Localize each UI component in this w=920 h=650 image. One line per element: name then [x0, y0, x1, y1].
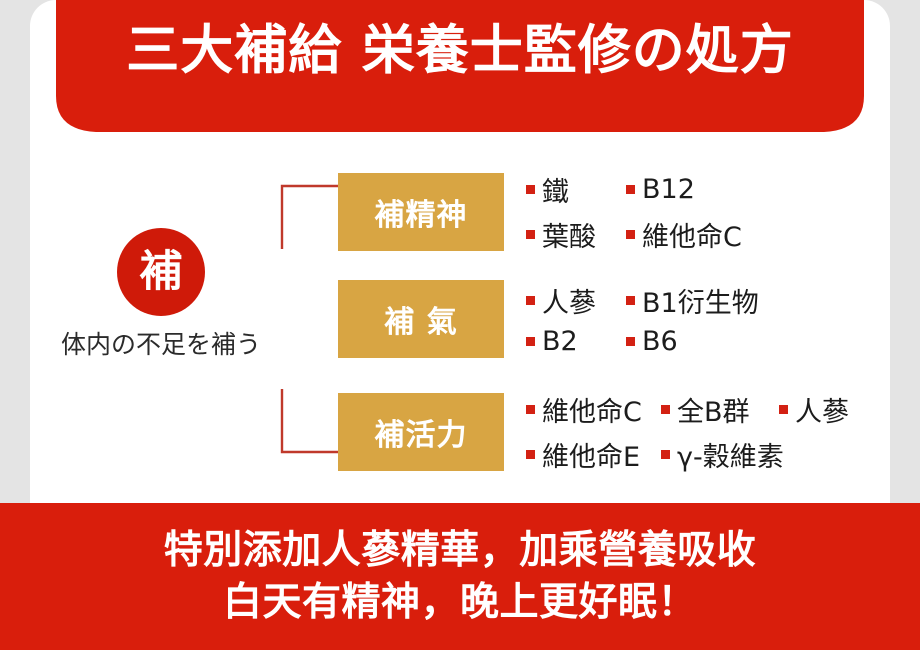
bullet-square-icon: [626, 337, 635, 346]
ingredient-list-3: 維他命C 全B群 人蔘 維他命E γ-穀維素: [526, 390, 849, 474]
bullet-square-icon: [626, 185, 635, 194]
ingredient-list-1: 鐵 B12 葉酸 維他命C: [526, 170, 742, 254]
ingredient-item: 葉酸: [526, 215, 626, 254]
bullet-square-icon: [526, 230, 535, 239]
ingredient-item: B1衍生物: [626, 281, 759, 320]
ingredient-label: 葉酸: [542, 215, 596, 254]
ingredient-label: B12: [642, 174, 695, 205]
infographic-root: 三大補給 栄養士監修の処方 補 体内の不足を補う 補精神 鐵 B12: [0, 0, 920, 650]
ingredient-item: γ-穀維素: [661, 435, 784, 474]
category-label-1: 補精神: [338, 173, 504, 251]
bullet-square-icon: [526, 337, 535, 346]
bullet-square-icon: [661, 450, 670, 459]
ingredient-label: 維他命C: [542, 390, 642, 429]
ingredient-list-2: 人蔘 B1衍生物 B2 B6: [526, 281, 759, 357]
bullet-square-icon: [526, 296, 535, 305]
bullet-square-icon: [526, 450, 535, 459]
bullet-square-icon: [626, 296, 635, 305]
ingredient-item: 鐵: [526, 170, 626, 209]
category-label-3: 補活力: [338, 393, 504, 471]
page-title: 三大補給 栄養士監修の処方: [0, 24, 920, 77]
ingredient-item: B2: [526, 326, 626, 357]
ingredient-label: 人蔘: [795, 390, 849, 429]
bullet-square-icon: [779, 405, 788, 414]
bullet-square-icon: [526, 185, 535, 194]
ingredient-label: 人蔘: [542, 281, 596, 320]
category-label-2: 補 氣: [338, 280, 504, 358]
ingredient-label: B1衍生物: [642, 281, 759, 320]
category-row-2: 補 氣 人蔘 B1衍生物 B2 B6: [338, 280, 759, 358]
ingredient-line: B2 B6: [526, 326, 759, 357]
ingredient-label: B6: [642, 326, 678, 357]
ingredient-item: 維他命C: [626, 215, 742, 254]
ingredient-label: 維他命E: [542, 435, 640, 474]
badge-caption: 体内の不足を補う: [36, 325, 286, 361]
ingredient-line: 人蔘 B1衍生物: [526, 281, 759, 320]
ingredient-label: 維他命C: [642, 215, 742, 254]
ingredient-item: 人蔘: [526, 281, 626, 320]
footer-line-2: 白天有精神，晚上更好眠！: [223, 577, 697, 628]
ingredient-label: B2: [542, 326, 578, 357]
ingredient-line: 維他命E γ-穀維素: [526, 435, 849, 474]
ingredient-item: 全B群: [661, 390, 779, 429]
bullet-square-icon: [626, 230, 635, 239]
category-row-1: 補精神 鐵 B12 葉酸 維他命C: [338, 170, 742, 254]
badge-block: 補 体内の不足を補う: [36, 228, 286, 361]
ingredient-item: 維他命C: [526, 390, 661, 429]
category-row-3: 補活力 維他命C 全B群 人蔘 維他命E: [338, 390, 849, 474]
footer-line-1: 特別添加人蔘精華，加乘營養吸收: [164, 525, 757, 576]
ingredient-item: 維他命E: [526, 435, 661, 474]
ingredient-label: 鐵: [542, 170, 569, 209]
ingredient-line: 葉酸 維他命C: [526, 215, 742, 254]
ingredient-label: 全B群: [677, 390, 750, 429]
footer-banner: 特別添加人蔘精華，加乘營養吸收 白天有精神，晚上更好眠！: [0, 503, 920, 650]
ingredient-line: 鐵 B12: [526, 170, 742, 209]
bullet-square-icon: [661, 405, 670, 414]
ingredient-item: 人蔘: [779, 390, 849, 429]
ingredient-line: 維他命C 全B群 人蔘: [526, 390, 849, 429]
badge-circle: 補: [117, 228, 205, 316]
ingredient-item: B6: [626, 326, 678, 357]
ingredient-label: γ-穀維素: [677, 435, 784, 474]
bullet-square-icon: [526, 405, 535, 414]
ingredient-item: B12: [626, 174, 695, 205]
